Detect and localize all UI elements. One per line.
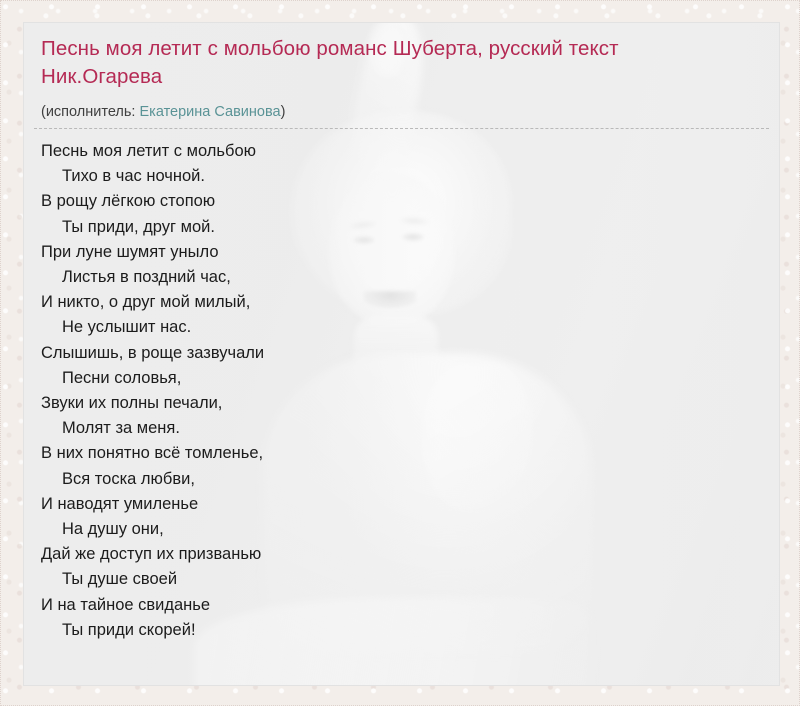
lyrics-line: Ты приди, друг мой. [41,215,601,240]
lyrics-content-card: Песнь моя летит с мольбою романс Шуберта… [23,22,780,686]
page-title: Песнь моя летит с мольбою романс Шуберта… [41,35,741,91]
lyrics-line: В рощу лёгкою стопою [41,189,601,214]
lyrics-line: Дай же доступ их призванью [41,542,601,567]
performer-prefix-label: (исполнитель: [41,104,139,120]
lyrics-line: Песни соловья, [41,366,601,391]
lyrics-line: На душу они, [41,517,601,542]
lyrics-line: И на тайное свиданье [41,593,601,618]
lyrics-line: Ты приди скорей! [41,618,601,643]
performer-link[interactable]: Екатерина Савинова [139,104,280,120]
lyrics-line: И никто, о друг мой милый, [41,290,601,315]
lyrics-line: Песнь моя летит с мольбою [41,139,601,164]
lyrics-line: При луне шумят уныло [41,240,601,265]
lyrics-line: И наводят умиленье [41,492,601,517]
lyrics-line: Молят за меня. [41,416,601,441]
header-divider [34,128,769,129]
page-frame: Песнь моя летит с мольбою романс Шуберта… [0,0,800,706]
performer-line: (исполнитель: Екатерина Савинова) [41,103,285,122]
lyrics-line: Ты душе своей [41,567,601,592]
lyrics-line: Слышишь, в роще зазвучали [41,341,601,366]
lyrics-body: Песнь моя летит с мольбоюТихо в час ночн… [41,139,601,643]
lyrics-line: Звуки их полны печали, [41,391,601,416]
lyrics-line: Вся тоска любви, [41,467,601,492]
lyrics-line: Тихо в час ночной. [41,164,601,189]
lyrics-line: В них понятно всё томленье, [41,441,601,466]
lyrics-line: Листья в поздний час, [41,265,601,290]
lyrics-line: Не услышит нас. [41,315,601,340]
performer-suffix-label: ) [281,104,286,120]
